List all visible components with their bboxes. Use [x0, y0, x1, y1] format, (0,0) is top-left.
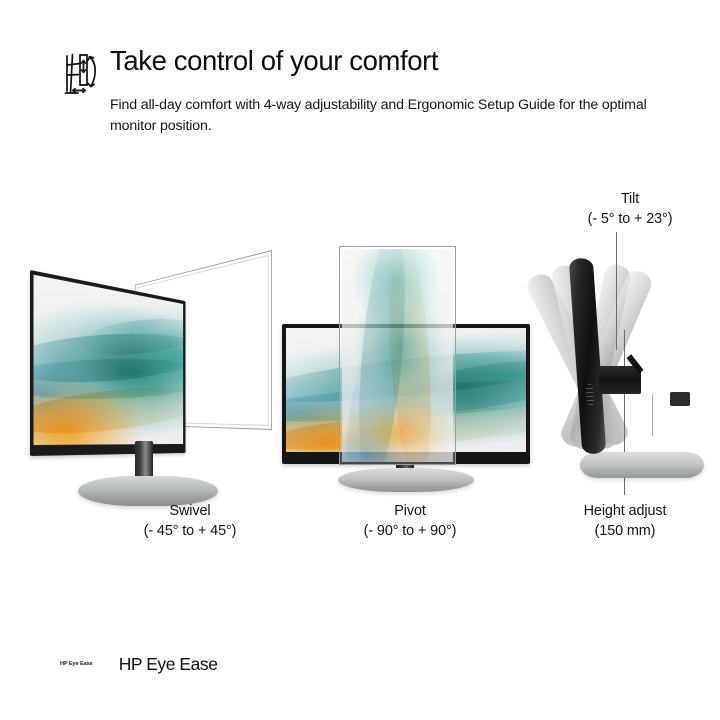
monitor-base	[338, 468, 474, 492]
header-block: Take control of your comfort Find all-da…	[58, 44, 683, 154]
caption-swivel-title: Swivel	[60, 502, 320, 522]
caption-tilt: Tilt (- 5° to + 23°)	[540, 190, 720, 229]
page-title: Take control of your comfort	[110, 44, 680, 77]
swivel-illustration	[18, 248, 276, 490]
screen-artwork-portrait	[342, 249, 453, 462]
stand-release-nub	[670, 392, 690, 406]
caption-pivot-title: Pivot	[300, 502, 520, 522]
pivot-illustration	[282, 246, 530, 490]
screen-artwork	[34, 275, 184, 445]
pivot-ghost-portrait	[339, 246, 456, 465]
caption-height-range: (150 mm)	[530, 522, 720, 542]
hp-eye-ease-wordmark: HP Eye Ease	[119, 654, 218, 675]
caption-tilt-range: (- 5° to + 23°)	[540, 210, 720, 230]
caption-pivot: Pivot (- 90° to + 90°)	[300, 502, 520, 541]
caption-tilt-title: Tilt	[540, 190, 720, 210]
infographic-page: Take control of your comfort Find all-da…	[0, 0, 720, 720]
monitor-hinge	[599, 366, 641, 394]
caption-pivot-range: (- 90° to + 90°)	[300, 522, 520, 542]
tilt-height-illustration	[534, 244, 720, 490]
hp-eye-ease-badge: HP Eye Ease	[60, 660, 93, 668]
footer-logo: HP Eye Ease HP Eye Ease	[60, 652, 218, 676]
caption-height-title: Height adjust	[530, 502, 720, 522]
caption-swivel-range: (- 45° to + 45°)	[60, 522, 320, 542]
page-subtitle: Find all-day comfort with 4-way adjustab…	[110, 95, 688, 136]
caption-swivel: Swivel (- 45° to + 45°)	[60, 502, 320, 541]
monitor-panel-swivel	[30, 270, 186, 456]
monitor-adjust-icon	[58, 48, 106, 98]
stand-seam-line	[652, 394, 653, 436]
caption-height-adjust: Height adjust (150 mm)	[530, 502, 720, 541]
tilt-leader-line	[616, 232, 617, 350]
